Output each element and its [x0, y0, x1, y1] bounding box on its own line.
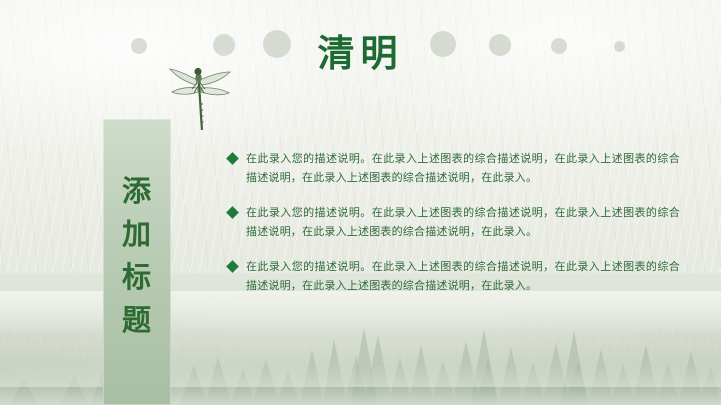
- slide-canvas: 清明 添 加 标 题: [0, 0, 721, 405]
- list-item: 在此录入您的描述说明。在此录入上述图表的综合描述说明，在此录入上述图表的综合描述…: [228, 204, 680, 242]
- list-item: 在此录入您的描述说明。在此录入上述图表的综合描述说明，在此录入上述图表的综合描述…: [228, 258, 680, 296]
- diamond-bullet-icon: [226, 260, 239, 273]
- diamond-bullet-icon: [226, 152, 239, 165]
- vertical-title-char-4: 题: [103, 300, 171, 343]
- diamond-bullet-icon: [226, 206, 239, 219]
- list-item-text: 在此录入您的描述说明。在此录入上述图表的综合描述说明，在此录入上述图表的综合描述…: [246, 150, 680, 188]
- list-item-text: 在此录入您的描述说明。在此录入上述图表的综合描述说明，在此录入上述图表的综合描述…: [246, 258, 680, 296]
- list-item: 在此录入您的描述说明。在此录入上述图表的综合描述说明，在此录入上述图表的综合描述…: [228, 150, 680, 188]
- bullet-list: 在此录入您的描述说明。在此录入上述图表的综合描述说明，在此录入上述图表的综合描述…: [228, 150, 680, 312]
- vertical-title-char-1: 添: [103, 171, 171, 214]
- dragonfly-icon: [168, 58, 240, 136]
- vertical-title-char-3: 标: [103, 257, 171, 300]
- vertical-title-text: 添 加 标 题: [103, 171, 171, 343]
- page-title: 清明: [0, 23, 721, 77]
- list-item-text: 在此录入您的描述说明。在此录入上述图表的综合描述说明，在此录入上述图表的综合描述…: [246, 204, 680, 242]
- vertical-title-banner: 添 加 标 题: [103, 119, 171, 405]
- vertical-title-char-2: 加: [103, 214, 171, 257]
